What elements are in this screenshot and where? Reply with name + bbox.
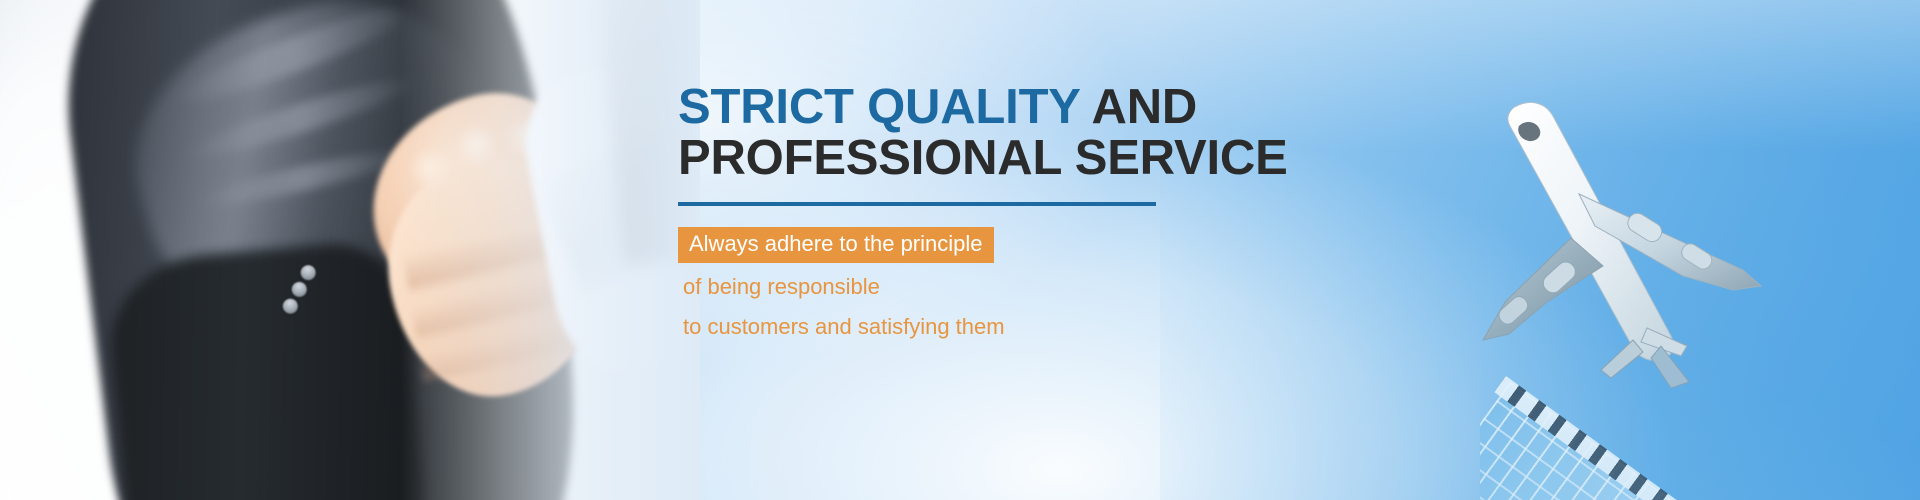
photo-edge-fade (400, 0, 700, 500)
headline-line-2: PROFESSIONAL SERVICE (678, 133, 1418, 184)
tagline-badge: Always adhere to the principle (678, 227, 994, 263)
tagline-line-2: of being responsible (683, 270, 1418, 303)
banner-copy: STRICT QUALITY AND PROFESSIONAL SERVICE … (678, 82, 1418, 343)
hero-banner: STRICT QUALITY AND PROFESSIONAL SERVICE … (0, 0, 1920, 500)
handshake-photo (0, 0, 700, 500)
headline-line-1: STRICT QUALITY AND (678, 82, 1418, 133)
tagline-line-3: to customers and satisfying them (683, 310, 1418, 343)
photo-suit-lower-body (104, 238, 432, 500)
headline-rest: AND (1080, 80, 1197, 134)
headline-highlight: STRICT QUALITY (678, 80, 1080, 134)
skyscraper-atmospheric-haze (1480, 290, 1920, 500)
glass-skyscraper (1480, 290, 1920, 500)
